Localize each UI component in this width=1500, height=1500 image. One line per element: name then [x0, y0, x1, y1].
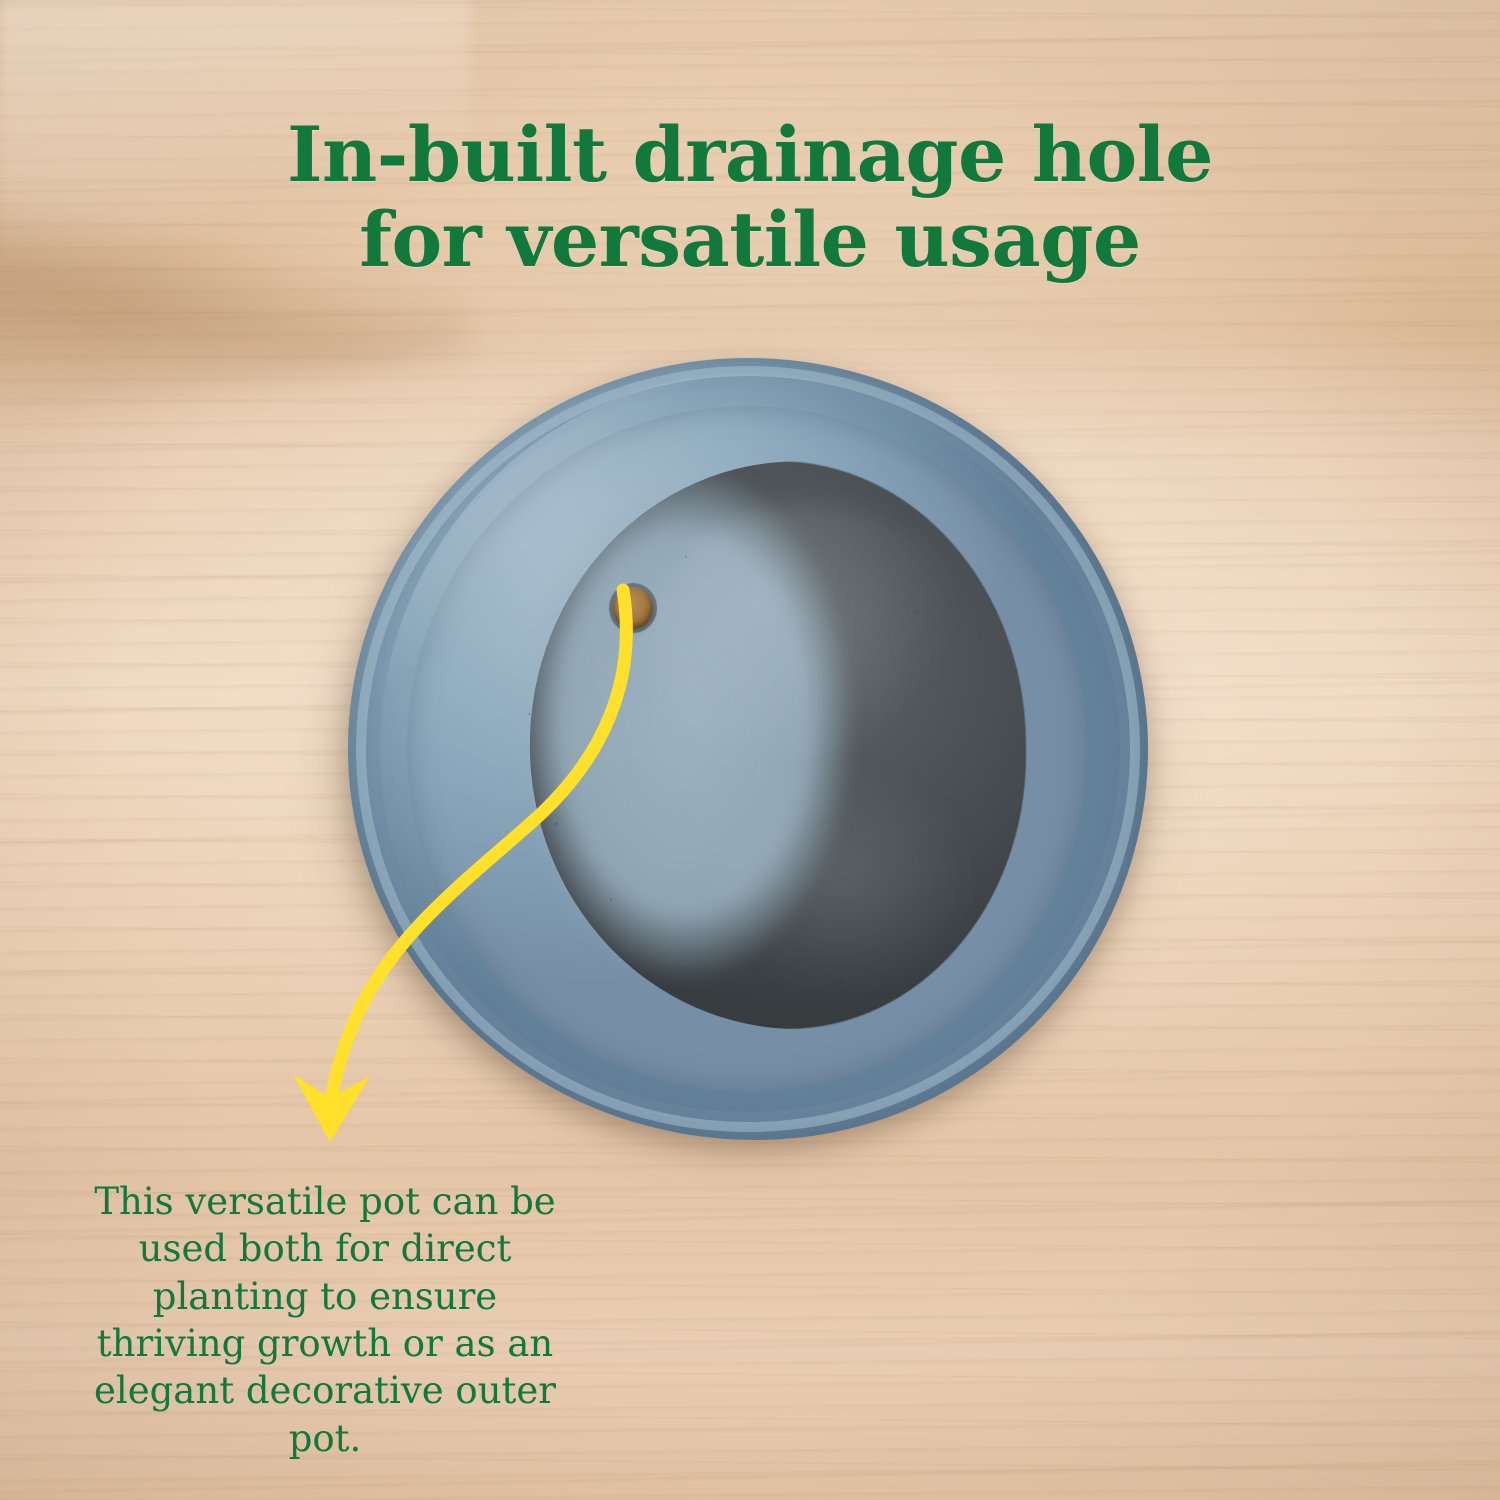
feature-caption: This versatile pot can be used both for … — [90, 1178, 560, 1462]
product-feature-image: In-built drainage hole for versatile usa… — [0, 0, 1500, 1500]
headline-line-2: for versatile usage — [0, 197, 1500, 282]
headline-line-1: In-built drainage hole — [287, 110, 1213, 199]
page-title: In-built drainage hole for versatile usa… — [0, 112, 1500, 282]
